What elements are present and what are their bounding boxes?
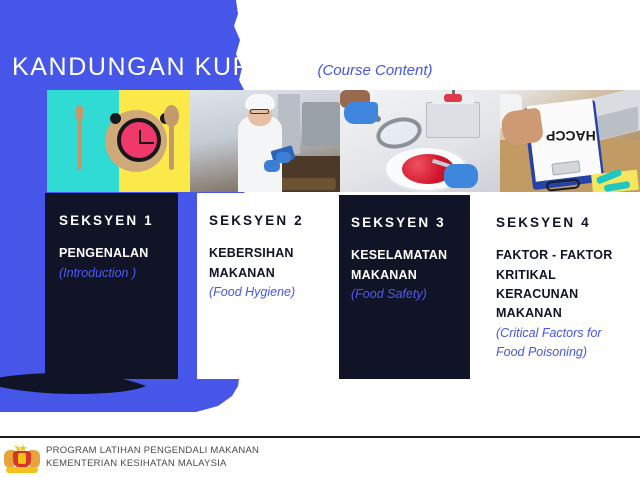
footer-line-2: KEMENTERIAN KESIHATAN MALAYSIA: [46, 458, 259, 471]
section-card-1[interactable]: SEKSYEN 1 PENGENALAN (Introduction ): [45, 193, 178, 379]
section-4-english: (Critical Factors for Food Poisoning): [496, 324, 614, 363]
section-1-title: PENGENALAN: [59, 244, 178, 263]
photo-haccp-clipboard: HACCP: [500, 90, 640, 192]
eyeglasses-icon: [250, 109, 269, 114]
section-4-heading: SEKSYEN 4: [496, 215, 614, 231]
photo-strip: HACCP: [47, 90, 640, 192]
section-1-heading: SEKSYEN 1: [59, 213, 178, 229]
conveyor-product: [274, 178, 336, 190]
page-subtitle: (Course Content): [317, 63, 432, 78]
blue-glove-right: [276, 152, 291, 163]
fork-icon: [77, 112, 82, 170]
machine-block: [302, 102, 340, 146]
slide-title-row: KANDUNGAN KURSUS (Course Content): [12, 55, 433, 80]
weighing-scale: [426, 102, 480, 138]
section-3-heading: SEKSYEN 3: [351, 215, 470, 231]
crest-shield: [13, 451, 31, 468]
footer-line-1: PROGRAM LATIHAN PENGENDALI MAKANAN: [46, 445, 259, 458]
section-1-english: (Introduction ): [59, 264, 178, 283]
footer-text-block: PROGRAM LATIHAN PENGENDALI MAKANAN KEMEN…: [46, 445, 259, 471]
photo-clock-cutlery-flatlay: [47, 90, 190, 192]
alarm-clock-icon: [117, 118, 161, 162]
section-2-title: KEBERSIHAN MAKANAN: [209, 244, 337, 283]
section-3-title: KESELAMATAN MAKANAN: [351, 246, 470, 285]
section-2-heading: SEKSYEN 2: [209, 213, 337, 229]
slide-canvas: KANDUNGAN KURSUS (Course Content): [0, 0, 640, 477]
clock-bell-left: [110, 113, 121, 124]
section-card-2[interactable]: SEKSYEN 2 KEBERSIHAN MAKANAN (Food Hygie…: [197, 193, 337, 379]
blue-glove-lower: [444, 164, 478, 188]
spacer: [59, 229, 178, 244]
footer-bar: ★ PROGRAM LATIHAN PENGENDALI MAKANAN KEM…: [0, 438, 640, 477]
spacer: [496, 231, 614, 246]
haccp-label: HACCP: [546, 128, 596, 144]
meat-sample: [444, 94, 462, 102]
hand-on-clipboard: [500, 107, 544, 146]
section-2-english: (Food Hygiene): [209, 283, 337, 302]
blue-glove-upper: [344, 102, 378, 124]
section-4-title: FAKTOR - FAKTOR KRITIKAL KERACUNAN MAKAN…: [496, 246, 614, 324]
photo-food-factory-inspector: [190, 90, 340, 192]
spacer: [351, 231, 470, 246]
spacer: [209, 229, 337, 244]
crest-ribbon: [6, 467, 38, 473]
photo-meat-inspection: [340, 90, 500, 192]
section-card-4[interactable]: SEKSYEN 4 FAKTOR - FAKTOR KRITIKAL KERAC…: [488, 195, 614, 395]
malaysia-coat-of-arms-icon: ★: [4, 442, 40, 474]
section-card-3[interactable]: SEKSYEN 3 KESELAMATAN MAKANAN (Food Safe…: [339, 195, 470, 379]
spoon-icon: [169, 123, 174, 170]
hair-net: [245, 94, 275, 110]
section-3-english: (Food Safety): [351, 285, 470, 304]
page-title: KANDUNGAN KURSUS: [12, 55, 308, 80]
